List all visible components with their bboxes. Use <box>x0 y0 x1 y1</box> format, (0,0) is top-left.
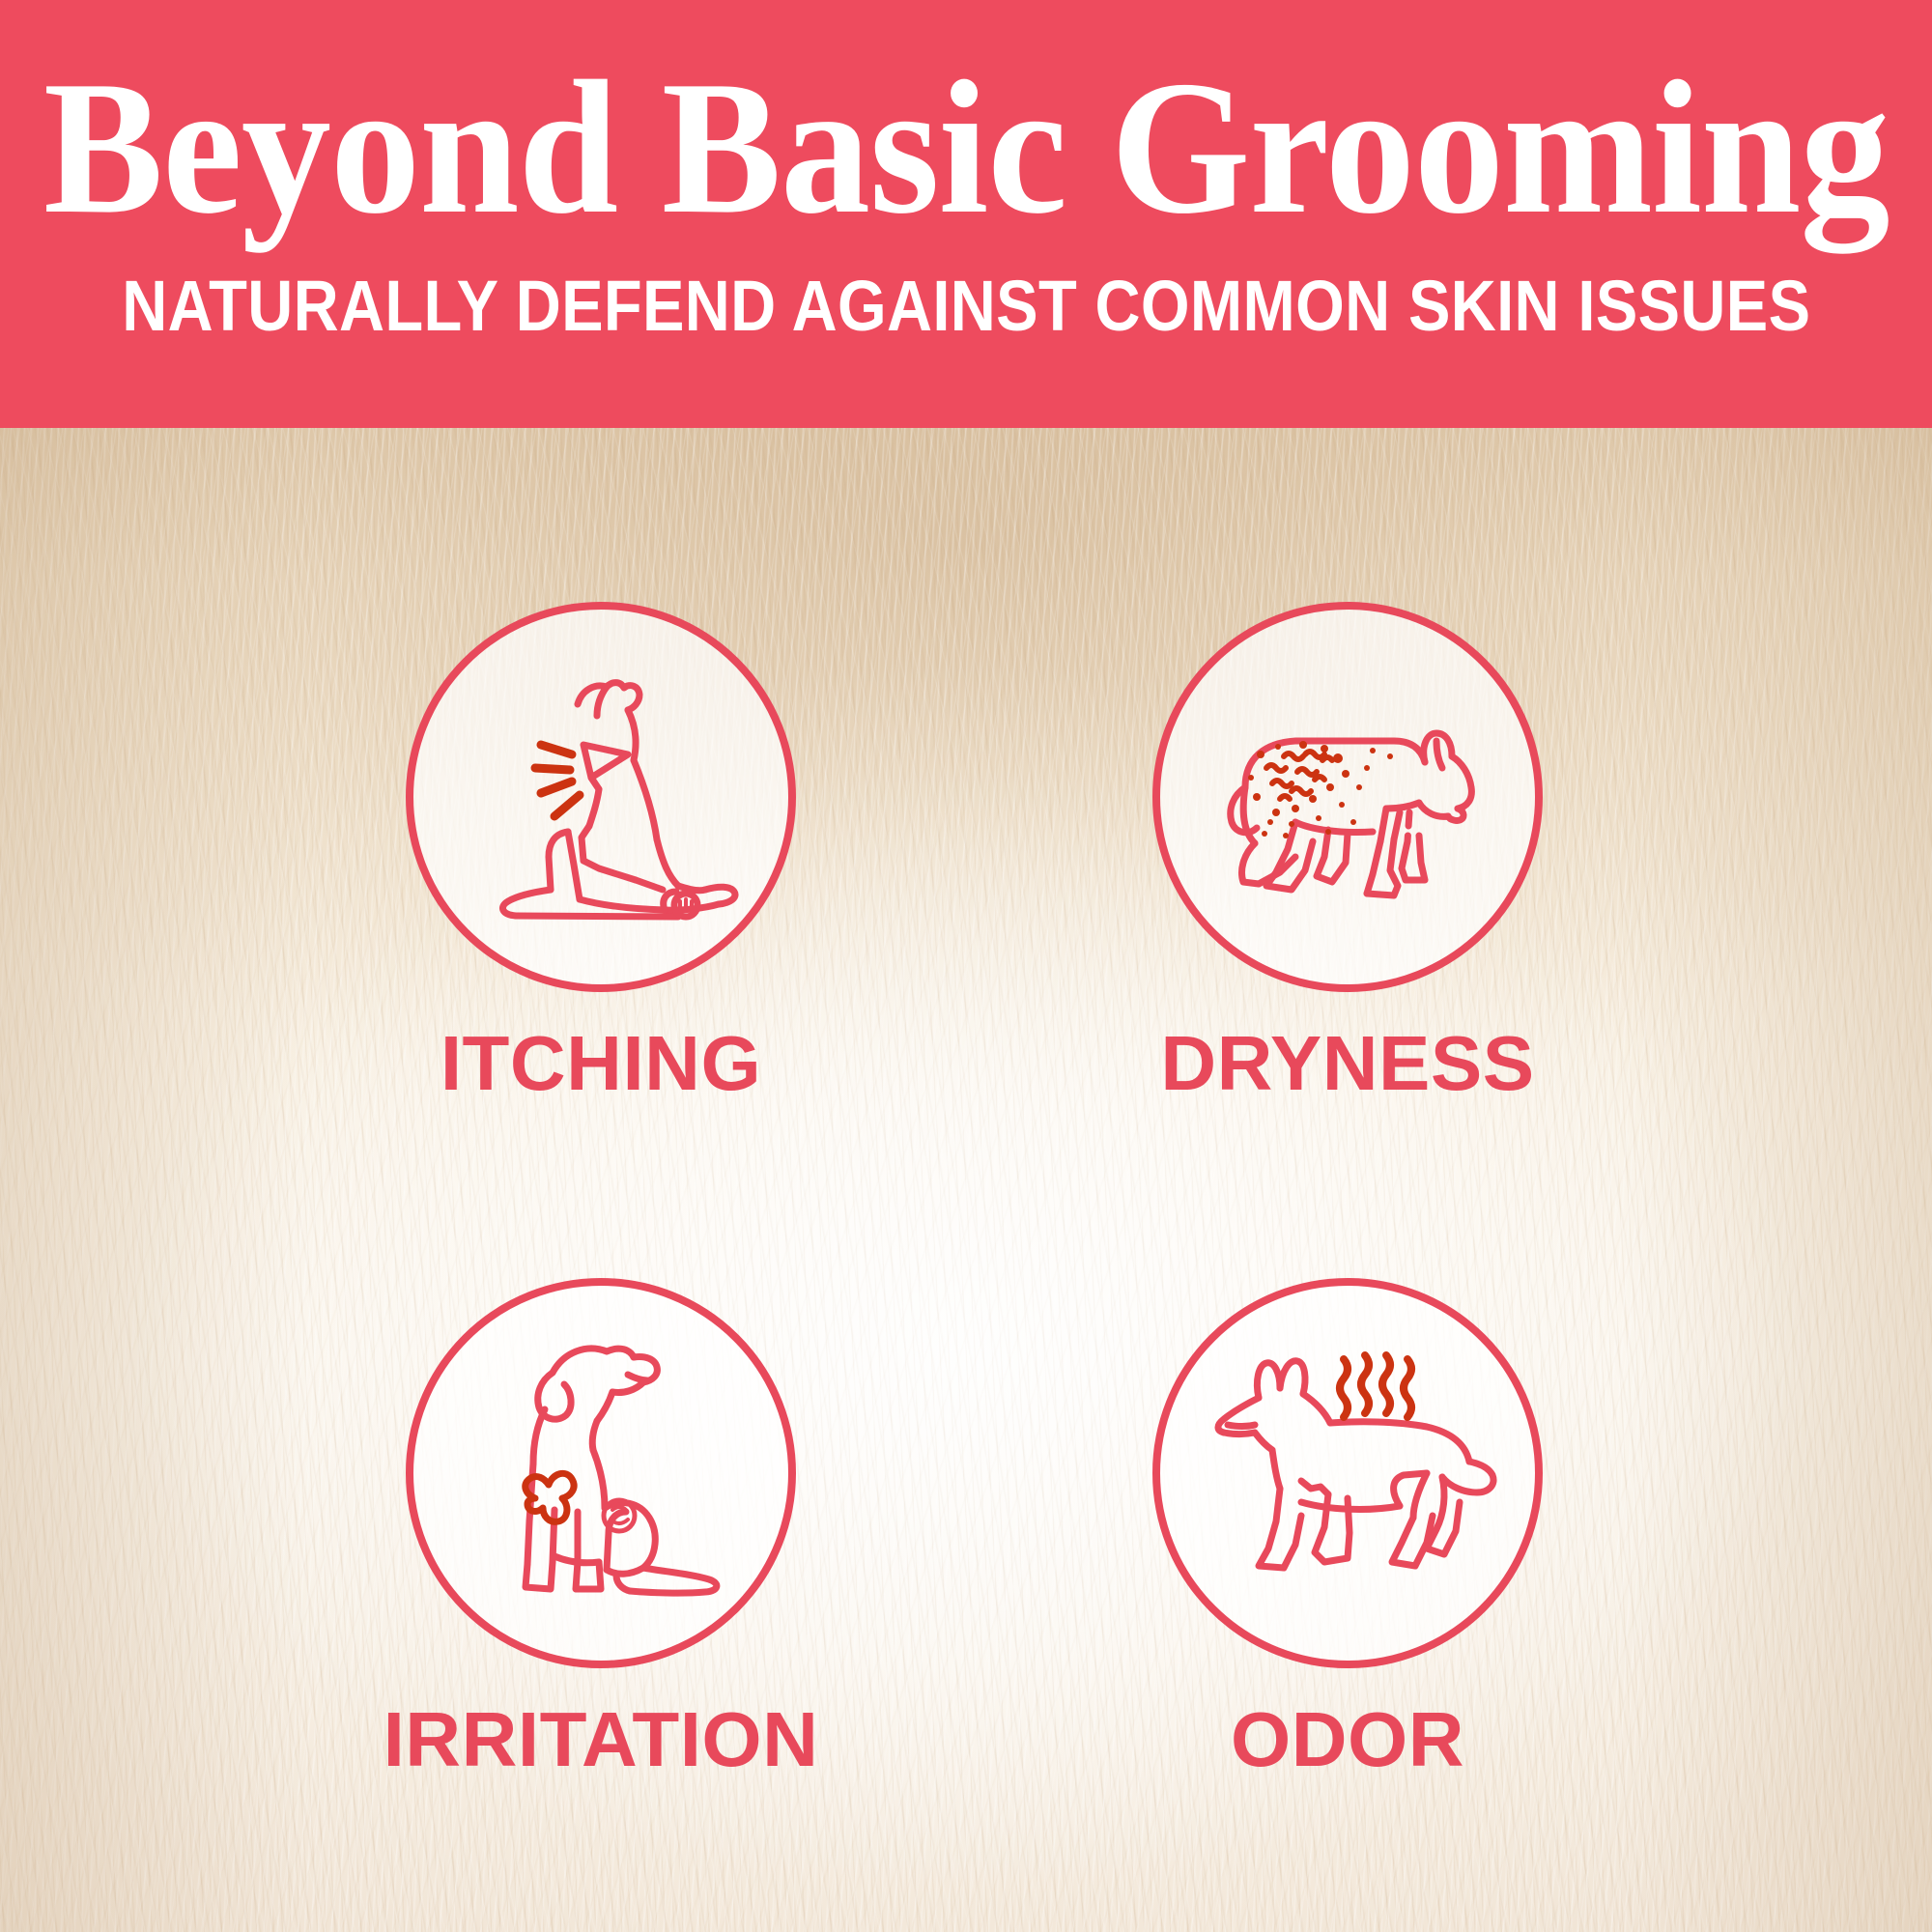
issue-card-itching[interactable]: ITCHING <box>292 602 910 1102</box>
page-subtitle: NATURALLY DEFEND AGAINST COMMON SKIN ISS… <box>122 270 1810 342</box>
issue-card-dryness[interactable]: DRYNESS <box>1038 602 1657 1102</box>
poster-root: Beyond Basic Grooming NATURALLY DEFEND A… <box>0 0 1932 1932</box>
dog-scratching-icon <box>437 633 765 961</box>
dog-dander-flakes-icon <box>1183 633 1512 961</box>
issue-icon-circle <box>406 1278 796 1668</box>
skin-issues-grid: ITCHING <box>0 428 1932 1932</box>
page-title: Beyond Basic Grooming <box>43 50 1889 245</box>
issue-card-odor[interactable]: ODOR <box>1038 1278 1657 1778</box>
issue-label-dryness: DRYNESS <box>1038 1025 1657 1102</box>
issue-icon-circle <box>1152 1278 1543 1668</box>
header-banner: Beyond Basic Grooming NATURALLY DEFEND A… <box>0 0 1932 428</box>
issue-label-irritation: IRRITATION <box>292 1701 910 1778</box>
dog-irritated-patch-icon <box>437 1309 765 1637</box>
issue-icon-circle <box>406 602 796 992</box>
issue-icon-circle <box>1152 602 1543 992</box>
issue-label-odor: ODOR <box>1038 1701 1657 1778</box>
issue-label-itching: ITCHING <box>292 1025 910 1102</box>
issue-card-irritation[interactable]: IRRITATION <box>292 1278 910 1778</box>
dog-odor-waves-icon <box>1183 1309 1512 1637</box>
